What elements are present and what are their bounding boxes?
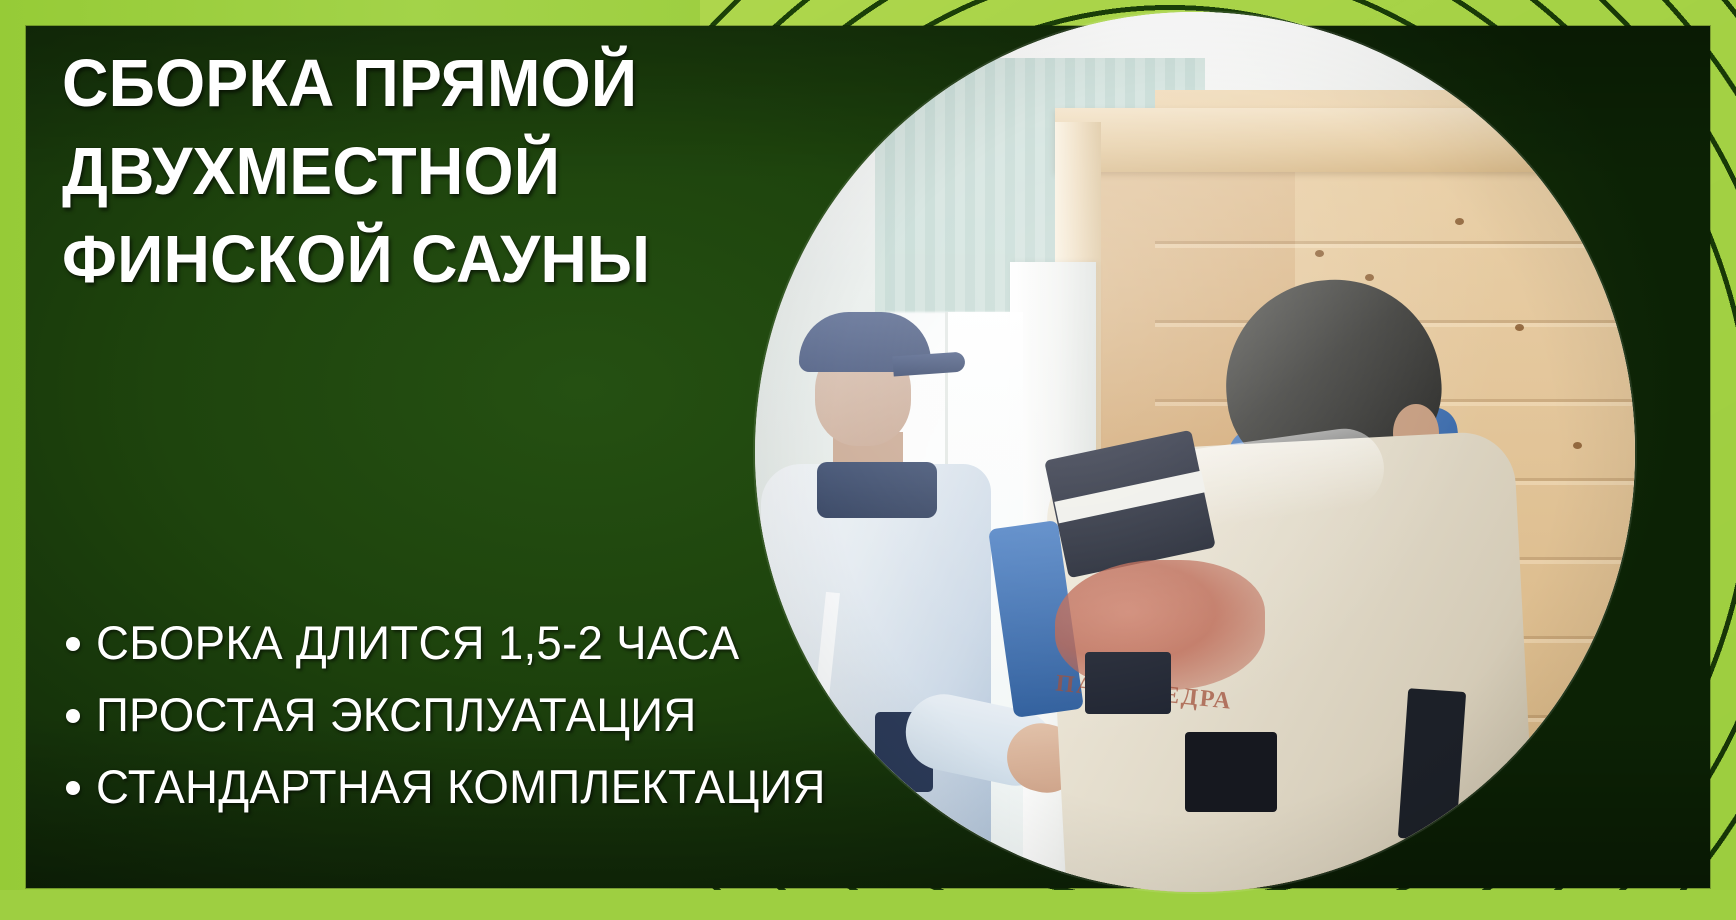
bullet-dot-icon xyxy=(66,709,80,723)
promo-banner: СБОРКА ПРЯМОЙ ДВУХМЕСТНОЙ ФИНСКОЙ САУНЫ … xyxy=(0,0,1736,920)
list-item: СТАНДАРТНАЯ КОМПЛЕКТАЦИЯ xyxy=(66,758,946,816)
photo-worker-left-collar xyxy=(817,462,937,518)
page-title: СБОРКА ПРЯМОЙ ДВУХМЕСТНОЙ ФИНСКОЙ САУНЫ xyxy=(62,40,782,304)
frame-bottom-band xyxy=(0,890,1736,920)
feature-label-1: СБОРКА ДЛИТСЯ 1,5-2 ЧАСА xyxy=(96,614,739,672)
photo-wood-knot xyxy=(1455,218,1464,225)
feature-label-2: ПРОСТАЯ ЭКСПЛУАТАЦИЯ xyxy=(96,686,697,744)
photo-worker-right-pocket xyxy=(1185,732,1277,812)
photo-wood-knot xyxy=(1365,274,1374,281)
photo-worker-right-pocket xyxy=(1398,688,1466,842)
feature-list: СБОРКА ДЛИТСЯ 1,5-2 ЧАСА ПРОСТАЯ ЭКСПЛУА… xyxy=(66,614,946,816)
headline-line-2: ДВУХМЕСТНОЙ xyxy=(62,128,753,216)
list-item: ПРОСТАЯ ЭКСПЛУАТАЦИЯ xyxy=(66,686,946,744)
photo-worker-right-pocket xyxy=(1085,652,1171,714)
photo-wood-knot xyxy=(1573,442,1582,449)
bullet-dot-icon xyxy=(66,637,80,651)
headline-line-1: СБОРКА ПРЯМОЙ xyxy=(62,40,753,128)
photo-wood-knot xyxy=(1515,324,1524,331)
headline-line-3: ФИНСКОЙ САУНЫ xyxy=(62,216,753,304)
photo-cabin-lintel xyxy=(1055,108,1635,172)
bullet-dot-icon xyxy=(66,781,80,795)
feature-label-3: СТАНДАРТНАЯ КОМПЛЕКТАЦИЯ xyxy=(96,758,826,816)
photo-wood-knot xyxy=(1315,250,1324,257)
list-item: СБОРКА ДЛИТСЯ 1,5-2 ЧАСА xyxy=(66,614,946,672)
